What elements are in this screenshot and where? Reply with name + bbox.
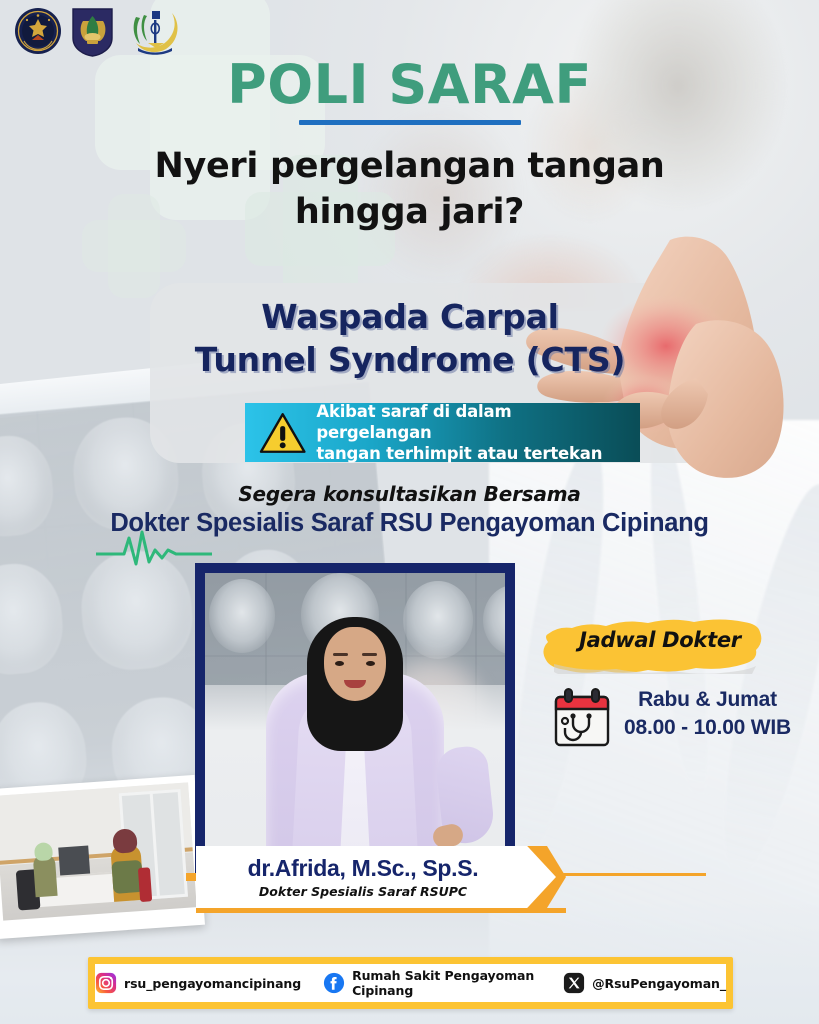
consult-subtitle: Segera konsultasikan Bersama [0,482,819,506]
consultation-room-photo [0,775,205,939]
facebook-icon[interactable] [323,972,345,994]
calendar-stethoscope-icon [551,687,613,749]
warning-bar: Akibat saraf di dalam pergelangan tangan… [245,403,640,462]
social-item-instagram[interactable]: rsu_pengayomancipinang [95,972,301,994]
schedule-details: Rabu & Jumat 08.00 - 10.00 WIB [620,688,795,740]
warning-line-1: Akibat saraf di dalam pergelangan [316,401,628,443]
facebook-handle: Rumah Sakit Pengayoman Cipinang [352,968,541,998]
social-footer: rsu_pengayomancipinang Rumah Sakit Penga… [88,957,733,1009]
rsupc-logo-icon [128,7,176,59]
institution-emblems [14,7,176,59]
poster-canvas: POLI SARAF Nyeri pergelangan tangan hing… [0,0,819,1024]
social-item-x[interactable]: @RsuPengayoman_ [563,972,726,994]
page-title: POLI SARAF [0,53,819,116]
warning-line-2: tangan terhimpit atau tertekan [316,443,628,464]
x-handle: @RsuPengayoman_ [592,976,726,991]
condition-line-1: Waspada Carpal [150,296,670,339]
social-item-facebook[interactable]: Rumah Sakit Pengayoman Cipinang [323,968,541,998]
warning-text: Akibat saraf di dalam pergelangan tangan… [316,401,628,464]
doctor-name: dr.Afrida, M.Sc., Sp.S. [248,855,479,882]
instagram-handle: rsu_pengayomancipinang [124,976,301,991]
headline-line-2: hingga jari? [0,189,819,235]
condition-text: Waspada Carpal Tunnel Syndrome (CTS) [150,296,670,382]
headline: Nyeri pergelangan tangan hingga jari? [0,143,819,235]
kemenkumham-seal-icon [14,7,62,59]
doctor-role: Dokter Spesialis Saraf RSUPC [259,884,467,899]
warning-triangle-icon [259,411,306,455]
title-underline [299,120,521,125]
schedule-days: Rabu & Jumat [620,688,795,712]
x-twitter-icon[interactable] [563,972,585,994]
doctor-photo [205,573,505,869]
headline-line-1: Nyeri pergelangan tangan [0,143,819,189]
schedule-badge-label: Jadwal Dokter [540,618,780,662]
condition-line-2: Tunnel Syndrome (CTS) [150,339,670,382]
doctor-photo-frame [195,563,515,879]
pengayoman-shield-icon [71,7,119,59]
name-banner-underline [196,908,566,913]
doctor-face [324,627,386,701]
instagram-icon[interactable] [95,972,117,994]
doctor-name-banner: dr.Afrida, M.Sc., Sp.S. Dokter Spesialis… [196,846,556,908]
schedule-time: 08.00 - 10.00 WIB [620,716,795,740]
